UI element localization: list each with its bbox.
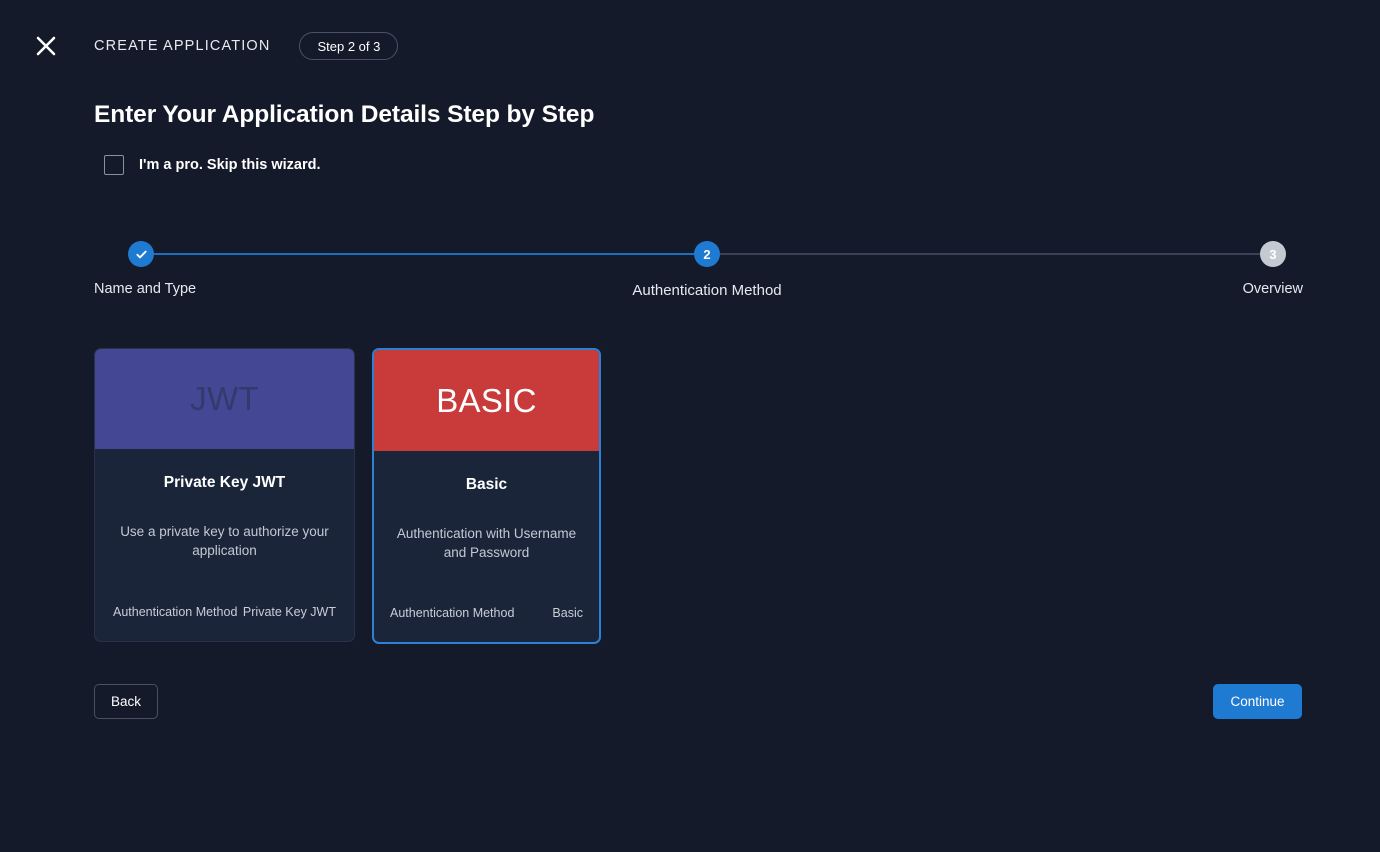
stepper-label-authentication-method[interactable]: Authentication Method [632, 282, 781, 299]
card-body-basic: Basic Authentication with Username and P… [374, 451, 599, 642]
auth-method-card-private-key-jwt[interactable]: JWT Private Key JWT Use a private key to… [94, 348, 355, 642]
card-meta-value: Basic [552, 606, 583, 620]
card-title: Private Key JWT [107, 474, 342, 492]
back-button[interactable]: Back [94, 684, 158, 719]
stepper-node-2[interactable]: 2 [694, 241, 720, 267]
top-bar: CREATE APPLICATION Step 2 of 3 [0, 0, 1380, 92]
stepper-node-1[interactable] [128, 241, 154, 267]
card-meta-row: Authentication Method Private Key JWT [107, 605, 342, 619]
auth-method-card-list: JWT Private Key JWT Use a private key to… [94, 348, 601, 644]
card-meta-value: Private Key JWT [243, 605, 336, 619]
card-body-private-key-jwt: Private Key JWT Use a private key to aut… [95, 449, 354, 641]
stepper-node-3-number: 3 [1269, 247, 1276, 262]
card-banner-basic: BASIC [374, 350, 599, 451]
skip-wizard-label: I'm a pro. Skip this wizard. [139, 157, 321, 173]
card-banner-jwt: JWT [95, 349, 354, 449]
stepper-connector-2-3 [720, 253, 1260, 254]
card-description: Use a private key to authorize your appl… [107, 522, 342, 560]
page-title: Enter Your Application Details Step by S… [94, 101, 594, 129]
close-icon[interactable] [29, 29, 63, 63]
check-icon [135, 248, 148, 261]
skip-wizard-checkbox-row[interactable]: I'm a pro. Skip this wizard. [104, 155, 321, 175]
card-meta-row: Authentication Method Basic [386, 606, 587, 620]
card-meta-key: Authentication Method [390, 606, 514, 620]
card-description: Authentication with Username and Passwor… [386, 524, 587, 562]
stepper-node-3[interactable]: 3 [1260, 241, 1286, 267]
wizard-title: CREATE APPLICATION [94, 38, 270, 54]
auth-method-card-basic[interactable]: BASIC Basic Authentication with Username… [372, 348, 601, 644]
card-title: Basic [386, 476, 587, 494]
wizard-stepper: 2 3 Name and Type Authentication Method … [128, 241, 1286, 311]
continue-button[interactable]: Continue [1213, 684, 1302, 719]
stepper-connector-1-2 [154, 253, 694, 255]
step-indicator-badge[interactable]: Step 2 of 3 [299, 32, 398, 60]
stepper-node-2-number: 2 [703, 247, 710, 262]
card-meta-key: Authentication Method [113, 605, 237, 619]
stepper-label-name-and-type[interactable]: Name and Type [94, 281, 196, 297]
create-application-wizard: CREATE APPLICATION Step 2 of 3 Enter You… [0, 0, 1380, 852]
stepper-labels: Name and Type Authentication Method Over… [128, 275, 1286, 299]
skip-wizard-checkbox[interactable] [104, 155, 124, 175]
stepper-label-overview[interactable]: Overview [1243, 281, 1303, 297]
stepper-track: 2 3 [128, 241, 1286, 267]
